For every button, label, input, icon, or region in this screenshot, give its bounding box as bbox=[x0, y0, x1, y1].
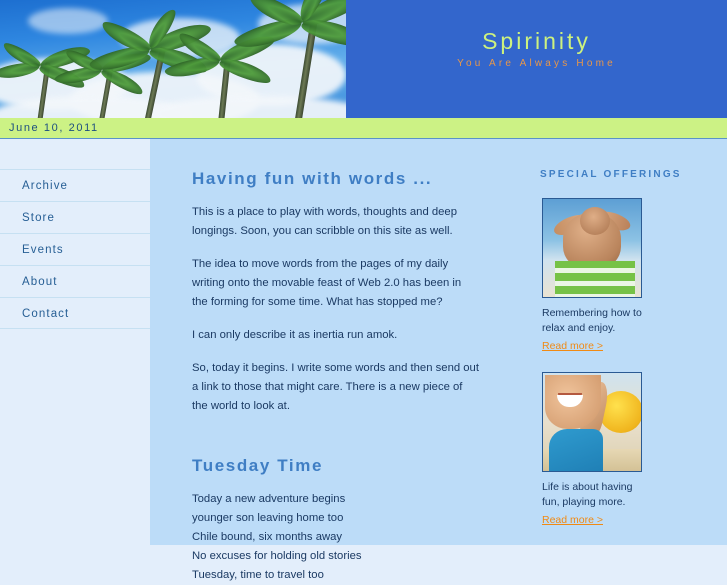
poem-line: Today a new adventure begins bbox=[150, 476, 520, 509]
sidebar-item-label: About bbox=[22, 276, 58, 288]
sidebar-item-label: Contact bbox=[22, 308, 69, 320]
offerings-title: SPECIAL OFFERINGS bbox=[520, 139, 727, 180]
head-shape bbox=[580, 207, 610, 235]
page-body: Archive Store Events About Contact Havin… bbox=[0, 139, 727, 545]
offering-caption: Remembering how to relax and enjoy. bbox=[542, 298, 652, 336]
sidebar-item-store[interactable]: Store bbox=[0, 201, 150, 233]
sidebar-item-events[interactable]: Events bbox=[0, 233, 150, 265]
post-paragraph: This is a place to play with words, thou… bbox=[150, 189, 520, 241]
offering-item: Remembering how to relax and enjoy. Read… bbox=[520, 180, 727, 354]
nav-list: Archive Store Events About Contact bbox=[0, 169, 150, 329]
left-sidebar: Archive Store Events About Contact bbox=[0, 139, 150, 545]
poem-line: No excuses for holding old stories bbox=[150, 547, 520, 566]
site-title: Spirinity bbox=[346, 28, 727, 55]
offering-item: Life is about having fun, playing more. … bbox=[520, 354, 727, 528]
date-bar: June 10, 2011 bbox=[0, 118, 727, 139]
poem-line: younger son leaving home too bbox=[150, 509, 520, 528]
offering-image-relax[interactable] bbox=[542, 198, 642, 298]
site-tagline: You Are Always Home bbox=[346, 58, 727, 69]
main-content: Having fun with words ... This is a plac… bbox=[150, 139, 520, 545]
sidebar-item-archive[interactable]: Archive bbox=[0, 169, 150, 201]
post-paragraph: The idea to move words from the pages of… bbox=[150, 241, 520, 312]
poem-line: Chile bound, six months away bbox=[150, 528, 520, 547]
post-title: Tuesday Time bbox=[150, 416, 520, 476]
sidebar-item-label: Archive bbox=[22, 180, 68, 192]
offering-caption: Life is about having fun, playing more. bbox=[542, 472, 652, 510]
towel-shape bbox=[555, 261, 635, 298]
sidebar-item-label: Store bbox=[22, 212, 55, 224]
offering-image-fun[interactable] bbox=[542, 372, 642, 472]
post-title: Having fun with words ... bbox=[150, 139, 520, 189]
sidebar-item-contact[interactable]: Contact bbox=[0, 297, 150, 329]
post-paragraph: So, today it begins. I write some words … bbox=[150, 345, 520, 416]
swimsuit-shape bbox=[549, 429, 603, 472]
site-header: Spirinity You Are Always Home bbox=[0, 0, 727, 118]
read-more-link[interactable]: Read more > bbox=[542, 338, 603, 352]
header-title-zone: Spirinity You Are Always Home bbox=[346, 0, 727, 118]
read-more-link[interactable]: Read more > bbox=[542, 512, 603, 526]
post-paragraph: I can only describe it as inertia run am… bbox=[150, 312, 520, 345]
cloud-shape bbox=[28, 8, 108, 34]
offerings-sidebar: SPECIAL OFFERINGS Remembering how to rel… bbox=[520, 139, 727, 545]
sidebar-item-label: Events bbox=[22, 244, 64, 256]
current-date: June 10, 2011 bbox=[9, 122, 99, 134]
poem-line: Tuesday, time to travel too bbox=[150, 566, 520, 585]
sidebar-item-about[interactable]: About bbox=[0, 265, 150, 297]
banner-photo bbox=[0, 0, 346, 118]
